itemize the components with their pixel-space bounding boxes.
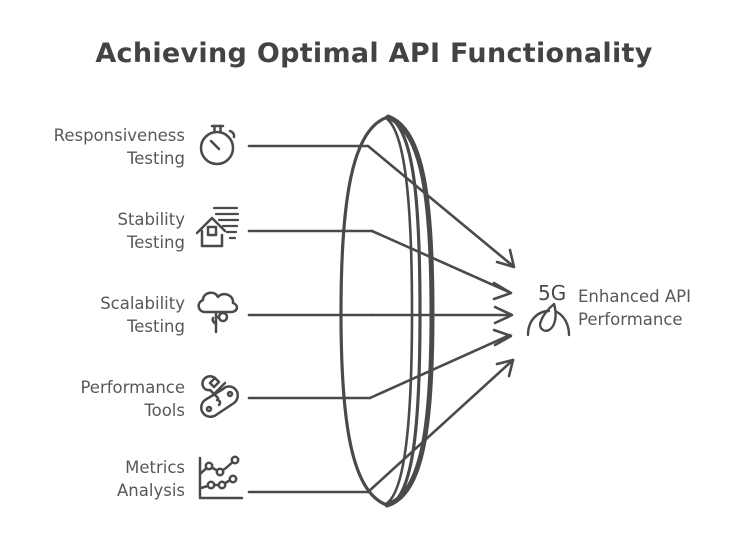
input-label-metrics-analysis: Metrics Analysis [15, 456, 185, 502]
input-label-performance-tools: Performance Tools [15, 376, 185, 422]
input-label-stability-testing: Stability Testing [15, 208, 185, 254]
house-signal-icon [192, 201, 246, 255]
input-label-scalability-testing: Scalability Testing [15, 292, 185, 338]
input-label-responsiveness-testing: Responsiveness Testing [15, 124, 185, 170]
diagram-canvas: Achieving Optimal API Functionality [0, 0, 748, 556]
cloud-icon [192, 286, 246, 340]
wrench-tools-icon [192, 370, 246, 424]
stopwatch-icon [192, 117, 246, 171]
speedometer-icon: 5G [524, 278, 584, 340]
line-chart-icon [192, 452, 246, 506]
page-title: Achieving Optimal API Functionality [0, 38, 748, 69]
output-badge-text: 5G [538, 281, 566, 305]
output-label: Enhanced API Performance [578, 285, 742, 331]
